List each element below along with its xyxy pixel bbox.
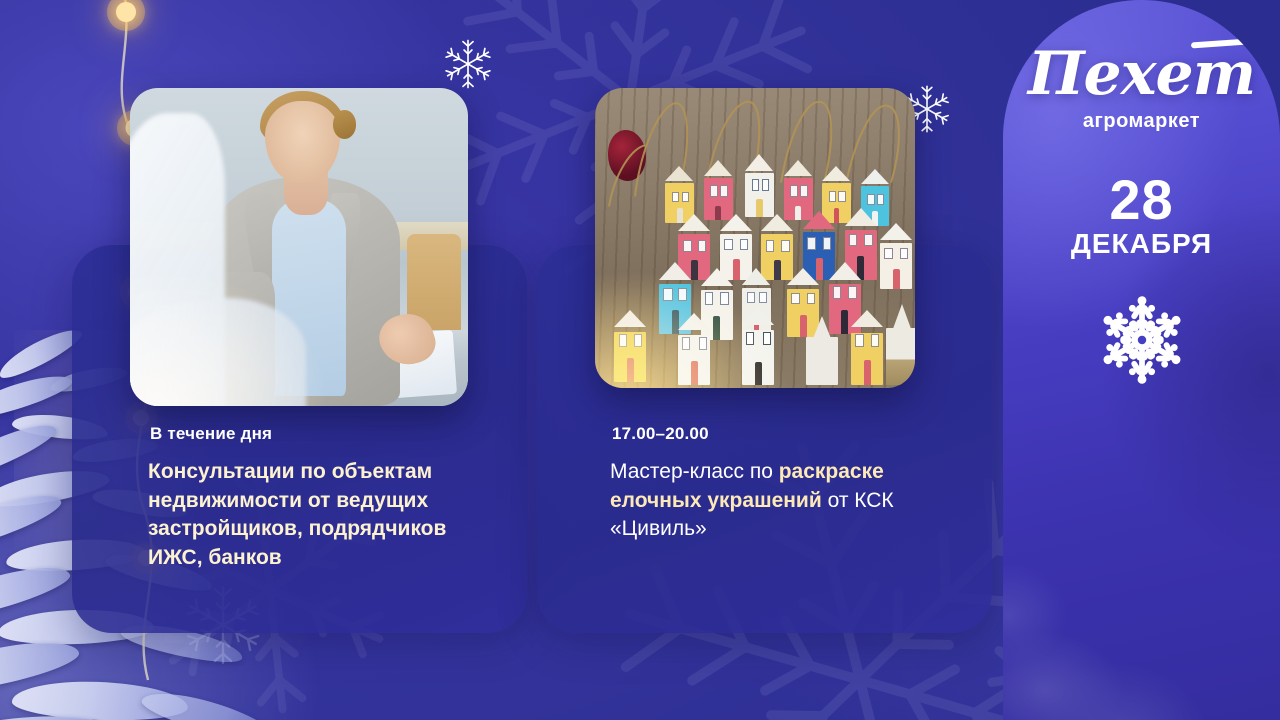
event-time-masterclass: 17.00–20.00	[612, 424, 709, 444]
snowflake-icon	[1094, 292, 1190, 393]
snowflake-icon	[440, 36, 496, 92]
brand-logo: Пехет агромаркет	[1003, 44, 1280, 133]
event-photo-consultations	[130, 88, 468, 406]
event-description-masterclass: Мастер-класс по раскраске елочных украше…	[610, 458, 950, 544]
masterclass-lead-text: Мастер-класс по	[610, 460, 779, 483]
event-photo-masterclass	[595, 88, 915, 388]
event-date-month: ДЕКАБРЯ	[1003, 228, 1280, 260]
event-date-day: 28	[1003, 172, 1280, 228]
brand-name-head: Пехе	[1028, 39, 1193, 109]
promo-poster: В течение дня Консультации по объектам н…	[0, 0, 1280, 720]
event-time-consultations: В течение дня	[150, 424, 272, 444]
arch-fir-watermark	[1003, 450, 1213, 720]
brand-name-tail: т	[1193, 44, 1256, 104]
brand-arch-panel: Пехет агромаркет 28 ДЕКАБРЯ	[1003, 0, 1280, 720]
brand-name: Пехет	[1003, 44, 1280, 104]
event-description-consultations: Консультации по объектам недвижимости от…	[148, 458, 498, 572]
brand-subtitle: агромаркет	[1003, 110, 1280, 133]
